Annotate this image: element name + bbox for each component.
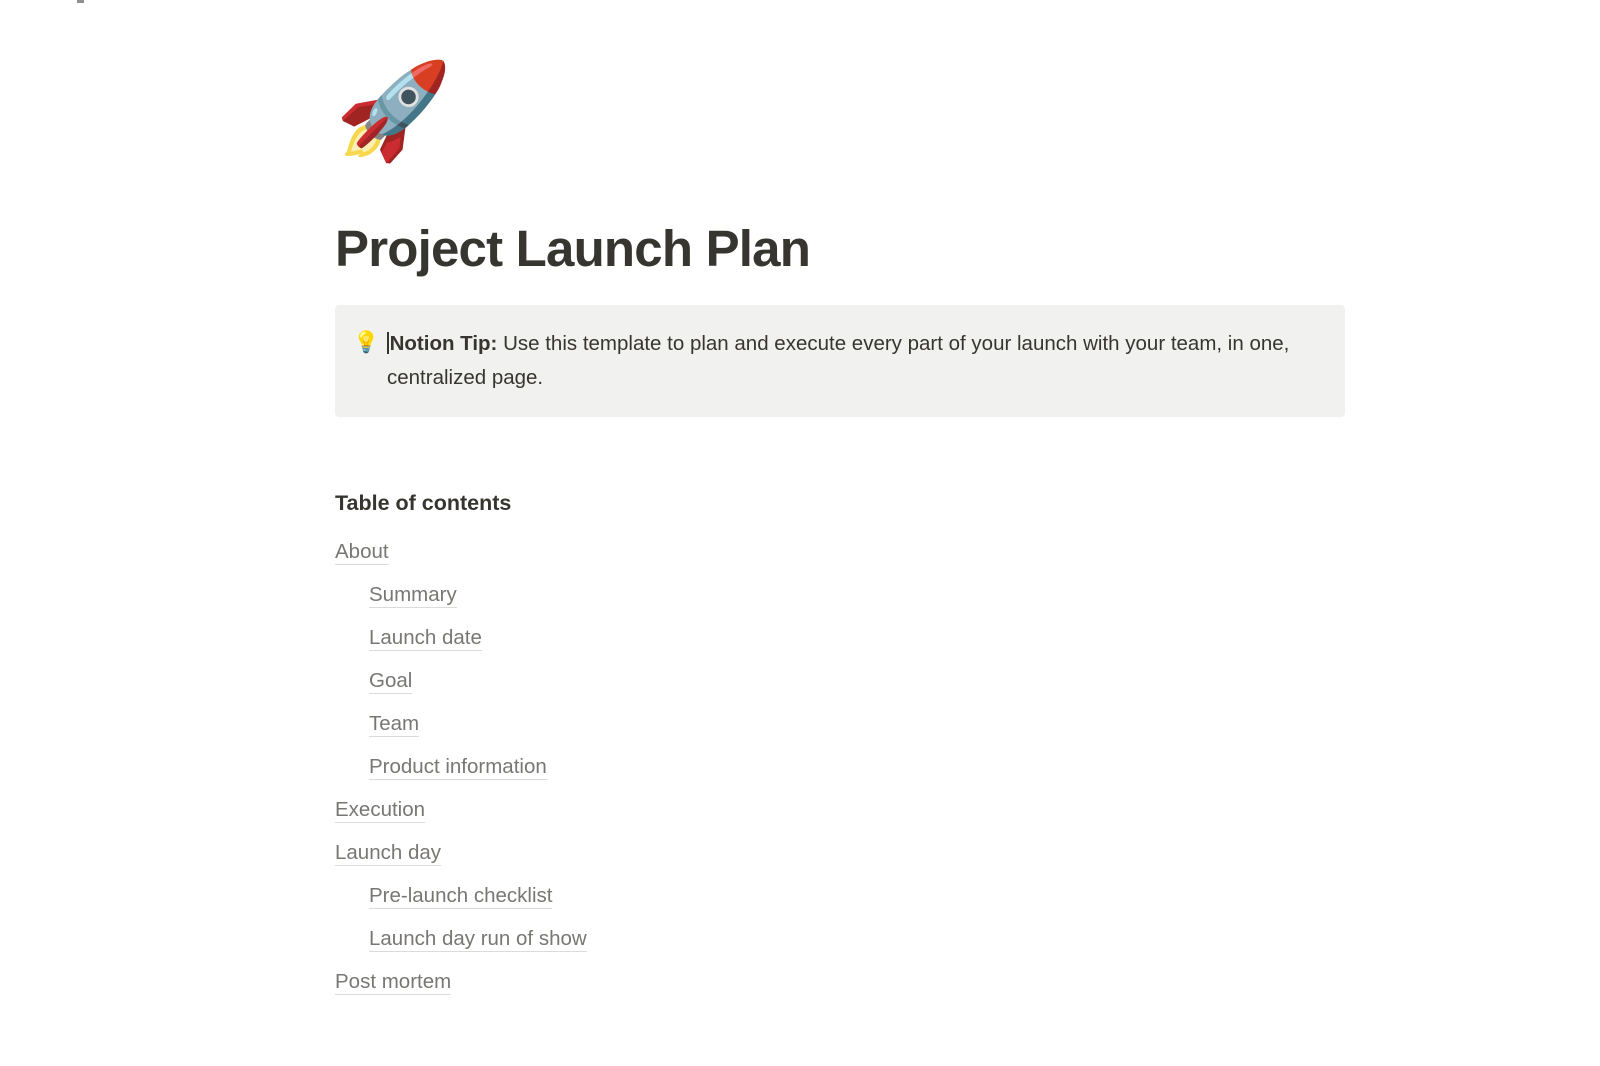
toc-item[interactable]: Launch day	[335, 840, 1370, 883]
rocket-emoji-icon[interactable]: 🚀	[335, 57, 445, 167]
callout-block[interactable]: 💡 Notion Tip: Use this template to plan …	[335, 305, 1345, 417]
toc-item[interactable]: Product information	[335, 754, 1370, 797]
toc-item[interactable]: Team	[335, 711, 1370, 754]
toc-item[interactable]: Goal	[335, 668, 1370, 711]
toc-item-label[interactable]: Post mortem	[335, 970, 451, 995]
toc-item-label[interactable]: Goal	[369, 669, 412, 694]
toc-item-label[interactable]: About	[335, 540, 389, 565]
callout-description: Use this template to plan and execute ev…	[387, 332, 1289, 389]
clipped-chrome-sliver	[77, 0, 84, 3]
toc-item[interactable]: Summary	[335, 582, 1370, 625]
lightbulb-emoji-icon[interactable]: 💡	[351, 327, 387, 358]
toc-item-label[interactable]: Launch day run of show	[369, 927, 587, 952]
toc-item-label[interactable]: Product information	[369, 755, 547, 780]
toc-item-label[interactable]: Execution	[335, 798, 425, 823]
toc-item[interactable]: Pre-launch checklist	[335, 883, 1370, 926]
text-caret	[387, 332, 389, 354]
table-of-contents-heading: Table of contents	[335, 489, 1370, 517]
callout-label: Notion Tip:	[390, 332, 498, 355]
toc-item-label[interactable]: Launch date	[369, 626, 482, 651]
callout-text[interactable]: Notion Tip: Use this template to plan an…	[387, 327, 1329, 395]
toc-item-label[interactable]: Launch day	[335, 841, 441, 866]
toc-item[interactable]: Launch date	[335, 625, 1370, 668]
toc-item-label[interactable]: Team	[369, 712, 419, 737]
toc-item-label[interactable]: Pre-launch checklist	[369, 884, 552, 909]
toc-item[interactable]: Post mortem	[335, 969, 1370, 1012]
toc-item[interactable]: About	[335, 539, 1370, 582]
page-title[interactable]: Project Launch Plan	[335, 219, 1370, 279]
table-of-contents: AboutSummaryLaunch dateGoalTeamProduct i…	[335, 539, 1370, 1012]
toc-item[interactable]: Launch day run of show	[335, 926, 1370, 969]
toc-item-label[interactable]: Summary	[369, 583, 457, 608]
toc-item[interactable]: Execution	[335, 797, 1370, 840]
document-page: 🚀 Project Launch Plan 💡 Notion Tip: Use …	[335, 0, 1370, 1012]
